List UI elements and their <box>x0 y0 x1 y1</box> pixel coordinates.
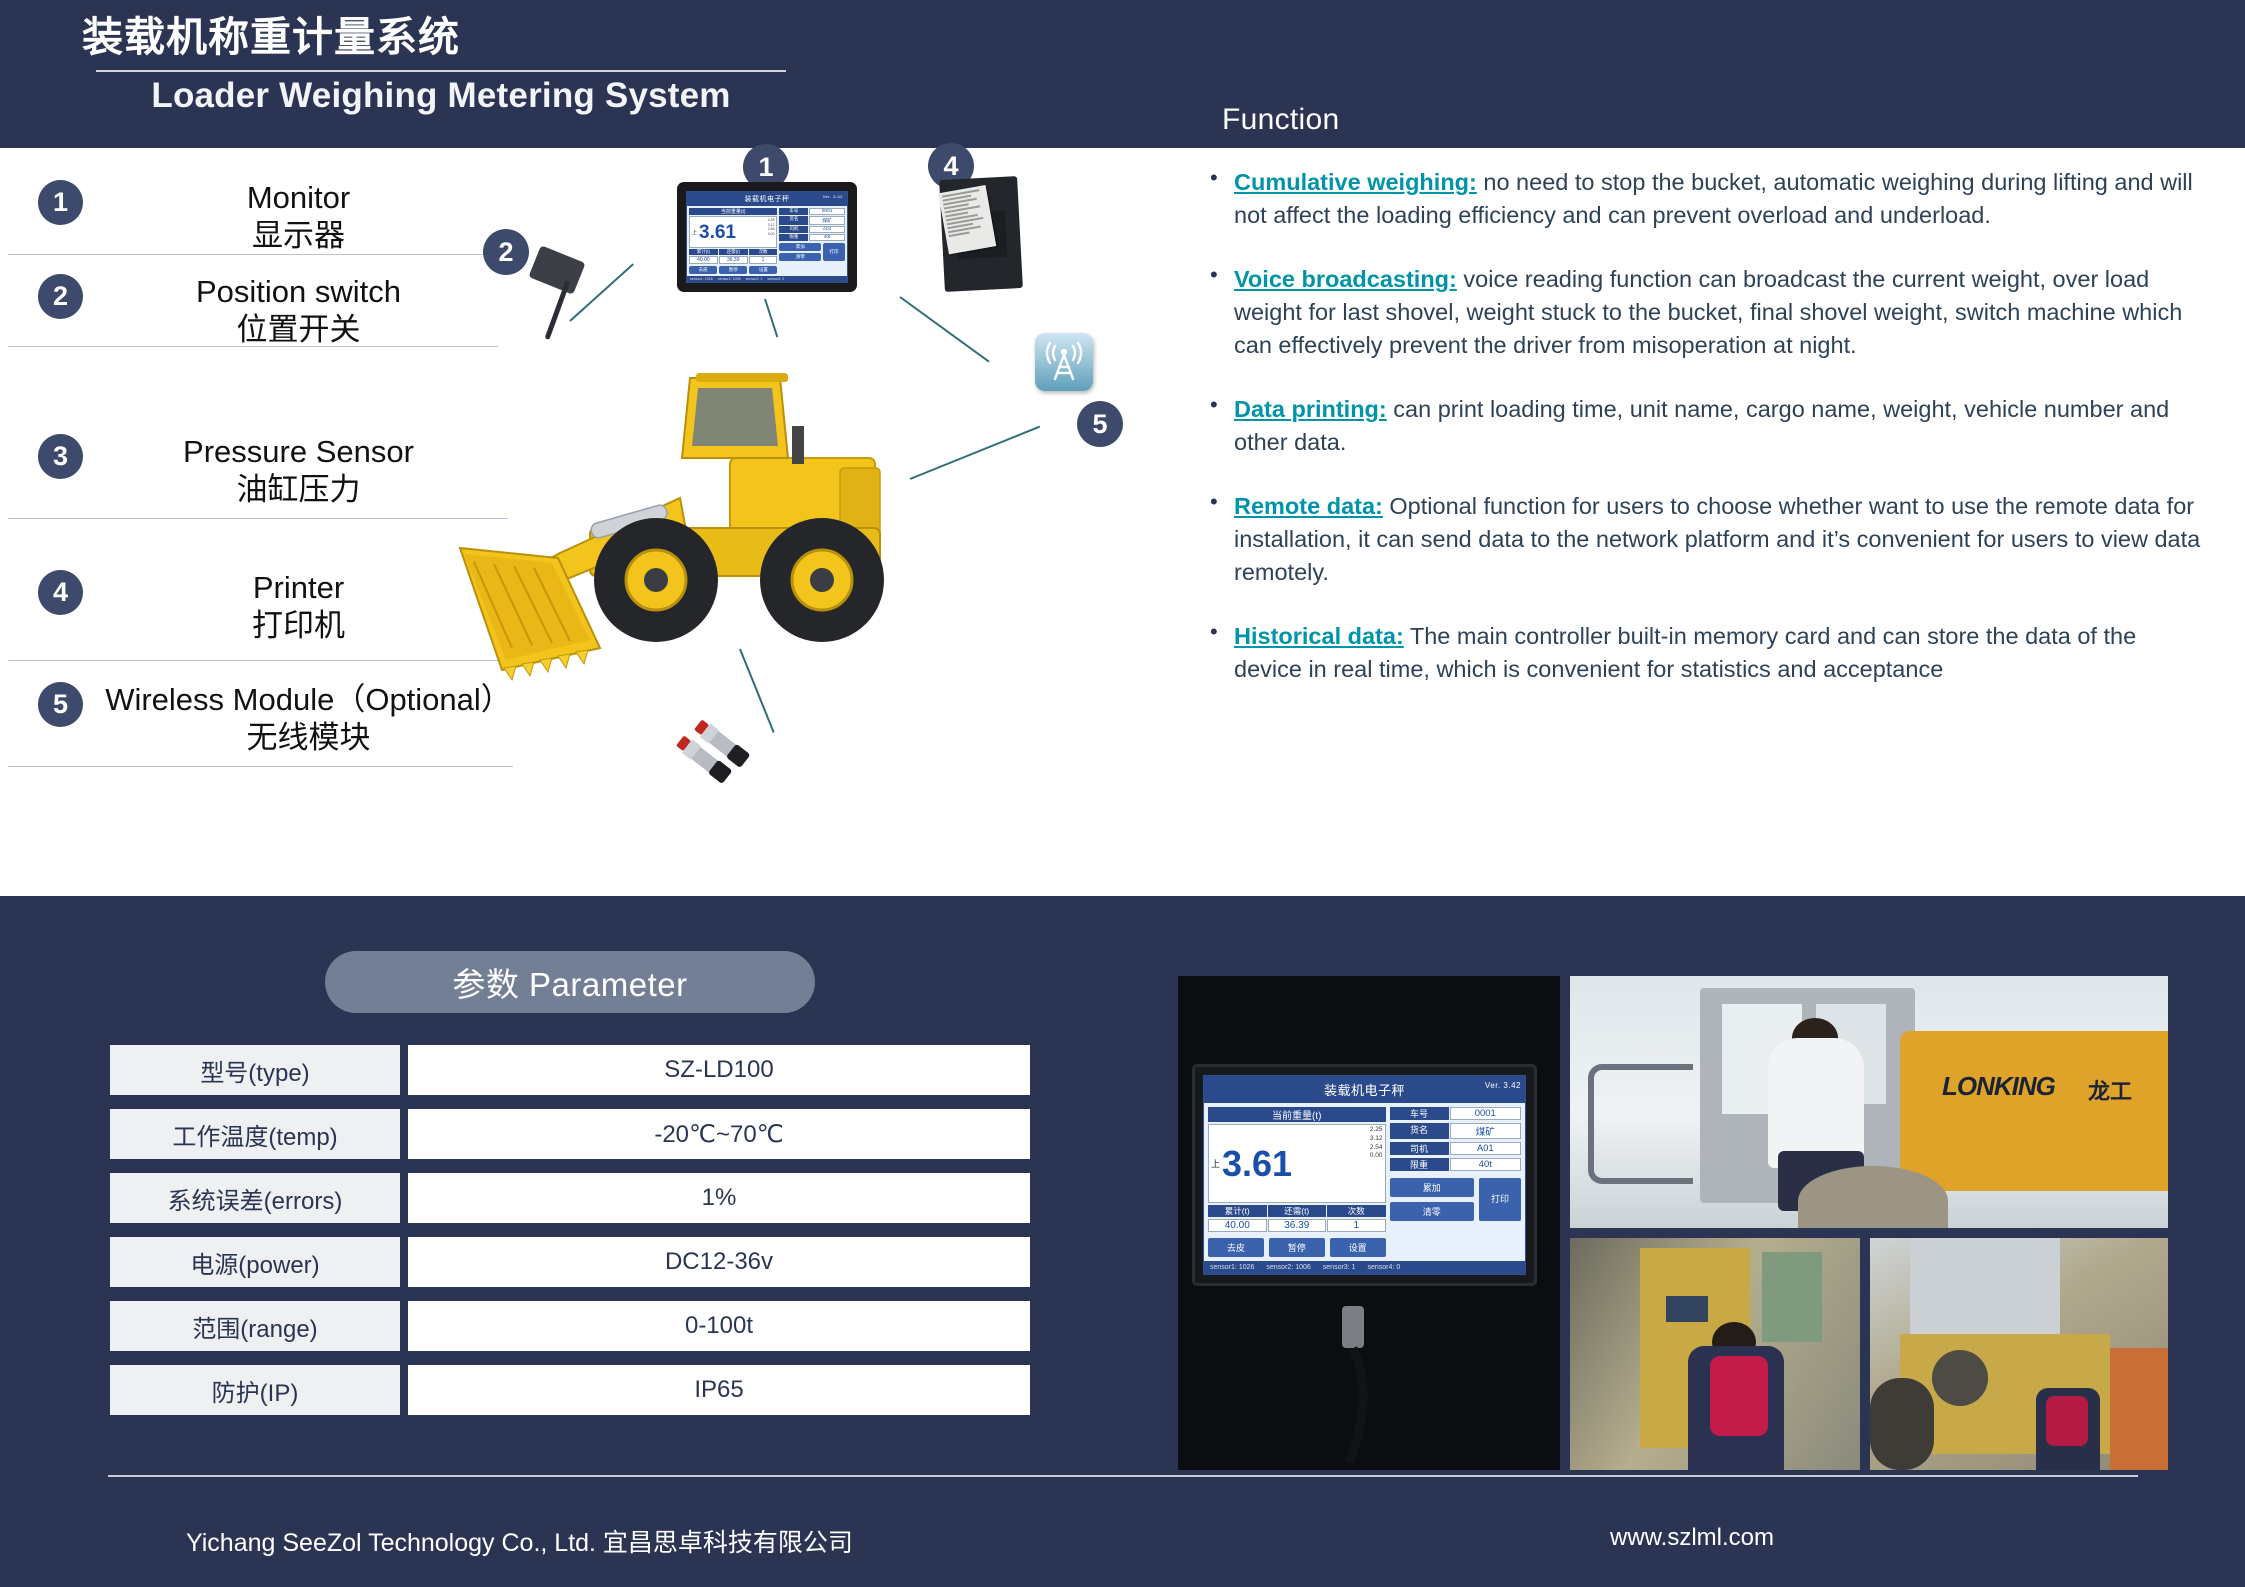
monitor-td-1: 36.39 <box>719 256 748 264</box>
monitor-sensor-footer: sensor1: 1026 sensor2: 1006 sensor3: 1 <box>687 276 847 282</box>
table-row: 防护(IP) IP65 <box>110 1365 1030 1415</box>
photo-nameplate <box>1666 1296 1708 1322</box>
monitor-device: 装载机电子秤 Ver. 3.42 当前重量(t) 上 3.61 2.25 3. <box>677 182 857 292</box>
photo-field-val-3: 40t <box>1450 1158 1521 1171</box>
monitor-sensor-key-1: sensor2: <box>718 277 732 281</box>
function-item-historical-data: • Historical data: The main controller b… <box>1210 620 2210 687</box>
bullet-dot-icon: • <box>1210 166 1234 233</box>
table-row: 型号(type) SZ-LD100 <box>110 1045 1030 1095</box>
function-item-data-printing: • Data printing: can print loading time,… <box>1210 393 2210 460</box>
header-title-block: 装载机称重计量系统 Loader Weighing Metering Syste… <box>82 12 882 116</box>
photo-sensor-key-1: sensor2: <box>1266 1264 1293 1271</box>
function-body-4: Historical data: The main controller bui… <box>1234 620 2210 687</box>
photo-history-1: 3.12 <box>1370 1135 1383 1142</box>
parameter-table-section: 参数 Parameter 型号(type) SZ-LD100 工作温度(temp… <box>110 951 1030 1429</box>
monitor-field-driver: 司机 A01 <box>779 226 845 233</box>
legend-item-position-switch[interactable]: 2 Position switch 位置开关 <box>38 274 508 348</box>
param-value-type: SZ-LD100 <box>408 1045 1030 1095</box>
photo-print-button[interactable]: 打印 <box>1479 1178 1521 1221</box>
photo-sensor-0: sensor1: 1026 <box>1210 1264 1254 1271</box>
header-divider <box>96 70 786 72</box>
photo-sensor-2: sensor3: 1 <box>1323 1264 1356 1271</box>
function-item-cumulative-weighing: • Cumulative weighing: no need to stop t… <box>1210 166 2210 233</box>
photo-field-vehicle: 车号 0001 <box>1390 1107 1521 1120</box>
monitor-history-3: 0.00 <box>768 232 775 236</box>
function-bullet-list: • Cumulative weighing: no need to stop t… <box>1210 166 2210 716</box>
photo-field-driver: 司机 A01 <box>1390 1142 1521 1155</box>
function-key-4[interactable]: Historical data: <box>1234 623 1404 649</box>
photo-pause-button[interactable]: 暂停 <box>1269 1238 1325 1257</box>
photo-side-panel <box>2110 1348 2168 1470</box>
monitor-settings-button[interactable]: 设置 <box>749 266 777 274</box>
photo-monitor-weight-value: 3.61 <box>1222 1146 1292 1182</box>
page-title-cn: 装载机称重计量系统 <box>82 12 882 63</box>
top-content-band: 1 Monitor 显示器 2 Position switch 位置开关 3 P… <box>0 148 2245 896</box>
legend-item-pressure-sensor[interactable]: 3 Pressure Sensor 油缸压力 <box>38 434 508 508</box>
monitor-sensor-val-2: 1 <box>760 277 762 281</box>
function-body-1: Voice broadcasting: voice reading functi… <box>1234 263 2210 363</box>
photo-sensor-1: sensor2: 1006 <box>1266 1264 1310 1271</box>
function-body-2: Data printing: can print loading time, u… <box>1234 393 2210 460</box>
position-switch-body <box>528 245 585 295</box>
table-row: 范围(range) 0-100t <box>110 1301 1030 1351</box>
monitor-clear-button[interactable]: 清零 <box>779 253 821 261</box>
legend-divider-5 <box>8 766 513 767</box>
receipt-line <box>949 232 970 237</box>
monitor-title-text: 装载机电子秤 <box>745 196 790 203</box>
monitor-history-1: 3.12 <box>768 223 775 227</box>
monitor-screen-body: 当前重量(t) 上 3.61 2.25 3.12 2.54 0.00 <box>687 206 847 276</box>
monitor-right-panel: 车号 0001 货名 煤矿 司机 A01 <box>779 208 845 274</box>
monitor-screen-title: 装载机电子秤 Ver. 3.42 <box>687 192 847 206</box>
monitor-history-2: 2.54 <box>768 227 775 231</box>
function-section-label: Function <box>1222 103 1339 137</box>
legend-badge-3: 3 <box>38 434 83 479</box>
photo-field-limit: 限重 40t <box>1390 1158 1521 1171</box>
photo-monitor-left: 当前重量(t) 上 3.61 2.25 3.12 2.54 0.00 <box>1208 1107 1386 1257</box>
monitor-action-row: 累加 清零 打印 <box>779 243 845 261</box>
monitor-td-0: 40.00 <box>689 256 718 264</box>
photo-monitor-screen: 装载机电子秤 Ver. 3.42 当前重量(t) 上 3.61 2.25 <box>1203 1075 1526 1275</box>
monitor-field-limit: 限重 40t <box>779 234 845 241</box>
photo-field-key-1: 货名 <box>1390 1123 1449 1139</box>
monitor-current-weight-display: 上 3.61 2.25 3.12 2.54 0.00 <box>689 216 777 248</box>
function-key-2[interactable]: Data printing: <box>1234 396 1387 422</box>
legend-badge-5: 5 <box>38 682 83 727</box>
monitor-sensor-0: sensor1: 1026 <box>690 277 713 281</box>
product-diagram: 1 2 3 4 5 <box>440 148 1140 896</box>
monitor-sensor-1: sensor2: 1006 <box>718 277 741 281</box>
photo-sensor-val-2: 1 <box>1352 1264 1356 1271</box>
photo-radiator-fan <box>1932 1350 1988 1406</box>
monitor-th-1: 还需(t) <box>719 249 748 255</box>
function-key-3[interactable]: Remote data: <box>1234 493 1383 519</box>
bullet-dot-icon: • <box>1210 620 1234 687</box>
monitor-table-header-row: 累计(t) 还需(t) 次数 <box>689 249 777 255</box>
monitor-sensor-val-1: 1006 <box>733 277 741 281</box>
photo-history-2: 2.54 <box>1370 1144 1383 1151</box>
monitor-current-weight-value: 3.61 <box>699 223 736 242</box>
monitor-version: Ver. 3.42 <box>823 194 843 199</box>
antenna-tower-svg <box>1035 333 1093 391</box>
table-row: 系统误差(errors) 1% <box>110 1173 1030 1223</box>
photo-monitor-actions: 累加 清零 打印 <box>1390 1178 1521 1221</box>
monitor-tare-button[interactable]: 去皮 <box>689 266 717 274</box>
photo-monitor-right: 车号 0001 货名 煤矿 司机 A01 <box>1390 1107 1521 1257</box>
pressure-sensor-devices <box>680 708 790 778</box>
photo-sensor-3: sensor4: 0 <box>1368 1264 1401 1271</box>
monitor-history-0: 2.25 <box>768 218 775 222</box>
legend-divider-4 <box>8 660 503 661</box>
photo-field-key-0: 车号 <box>1390 1107 1449 1120</box>
legend-badge-1: 1 <box>38 180 83 225</box>
photo-ladder-rail <box>1588 1064 1693 1184</box>
monitor-sensor-key-0: sensor1: <box>690 277 704 281</box>
monitor-action-col: 累加 清零 <box>779 243 821 261</box>
photo-history-0: 2.25 <box>1370 1126 1383 1133</box>
photo-technician-body <box>1768 1038 1864 1168</box>
photo-field-val-1: 煤矿 <box>1450 1123 1521 1139</box>
function-body-0: Cumulative weighing: no need to stop the… <box>1234 166 2210 233</box>
photo-sensor-key-2: sensor3: <box>1323 1264 1350 1271</box>
photo-field-val-2: A01 <box>1450 1142 1521 1155</box>
legend-divider-2 <box>8 346 498 347</box>
photo-monitor-weight-display: 上 3.61 2.25 3.12 2.54 0.00 <box>1208 1124 1386 1203</box>
photo-td-1: 36.39 <box>1268 1219 1327 1232</box>
monitor-sensor-2: sensor3: 1 <box>746 277 763 281</box>
poster-page: 装载机称重计量系统 Loader Weighing Metering Syste… <box>0 0 2245 1587</box>
param-key-ip: 防护(IP) <box>110 1365 400 1415</box>
photo-monitor-bezel: 装载机电子秤 Ver. 3.42 当前重量(t) 上 3.61 2.25 <box>1192 1064 1537 1286</box>
photo-loader-side-install <box>1870 1238 2168 1470</box>
monitor-field-key-1: 货名 <box>779 216 808 225</box>
function-body-3: Remote data: Optional function for users… <box>1234 490 2210 590</box>
photo-gallery: 装载机电子秤 Ver. 3.42 当前重量(t) 上 3.61 2.25 <box>1178 976 2168 1470</box>
function-item-remote-data: • Remote data: Optional function for use… <box>1210 490 2210 590</box>
lonking-brand-logo-cn: 龙工 <box>2088 1074 2132 1106</box>
param-value-temp: -20℃~70℃ <box>408 1109 1030 1159</box>
page-header: 装载机称重计量系统 Loader Weighing Metering Syste… <box>0 0 2245 148</box>
legend-badge-4: 4 <box>38 570 83 615</box>
photo-loader-arm <box>1900 1031 2168 1191</box>
monitor-field-key-3: 限重 <box>779 234 808 241</box>
photo-th-2: 次数 <box>1327 1205 1386 1217</box>
photo-monitor-sensor-footer: sensor1: 1026 sensor2: 1006 sensor3: 1 <box>1204 1261 1525 1274</box>
monitor-history-stack: 2.25 3.12 2.54 0.00 <box>768 218 775 236</box>
footer-divider <box>108 1475 2138 1477</box>
photo-loader-tire <box>1798 1166 1948 1228</box>
monitor-field-val-2: A01 <box>809 226 845 233</box>
monitor-button-row: 去皮 暂停 设置 <box>689 266 777 274</box>
photo-history-3: 0.00 <box>1370 1152 1383 1159</box>
position-switch-rod <box>545 280 571 340</box>
legend-item-printer[interactable]: 4 Printer 打印机 <box>38 570 508 644</box>
photo-th-1: 还需(t) <box>1268 1205 1327 1217</box>
monitor-th-0: 累计(t) <box>689 249 718 255</box>
page-title-en: Loader Weighing Metering System <box>96 76 786 116</box>
monitor-pause-button[interactable]: 暂停 <box>719 266 747 274</box>
monitor-field-vehicle: 车号 0001 <box>779 208 845 215</box>
bullet-dot-icon: • <box>1210 263 1234 363</box>
photo-settings-button[interactable]: 设置 <box>1330 1238 1386 1257</box>
monitor-sensor-3: sensor4: 0 <box>767 277 784 281</box>
monitor-accumulate-button[interactable]: 累加 <box>779 243 821 251</box>
monitor-field-val-3: 40t <box>809 234 845 241</box>
photo-monitor-title-text: 装载机电子秤 <box>1324 1083 1405 1098</box>
photo-monitor-th-row: 累计(t) 还需(t) 次数 <box>1208 1205 1386 1217</box>
monitor-field-key-0: 车号 <box>779 208 808 215</box>
position-switch-device <box>525 253 589 348</box>
photo-loader-installation: LONKING 龙工 <box>1570 976 2168 1228</box>
photo-monitor-cable <box>1308 1306 1428 1466</box>
bullet-dot-icon: • <box>1210 490 1234 590</box>
photo-accumulate-button[interactable]: 累加 <box>1390 1178 1474 1197</box>
legend-item-monitor[interactable]: 1 Monitor 显示器 <box>38 180 508 254</box>
param-value-power: DC12-36v <box>408 1237 1030 1287</box>
bottom-content-band: 参数 Parameter 型号(type) SZ-LD100 工作温度(temp… <box>0 896 2245 1587</box>
monitor-field-val-0: 0001 <box>809 208 845 215</box>
photo-sensor-key-3: sensor4: <box>1368 1264 1395 1271</box>
param-key-power: 电源(power) <box>110 1237 400 1287</box>
footer-website[interactable]: www.szlml.com <box>1610 1524 1774 1552</box>
photo-td-2: 1 <box>1327 1219 1386 1232</box>
photo-monitor-version: Ver. 3.42 <box>1485 1081 1521 1090</box>
monitor-sensor-key-3: sensor4: <box>767 277 781 281</box>
monitor-current-weight-label: 当前重量(t) <box>689 208 777 215</box>
param-key-errors: 系统误差(errors) <box>110 1173 400 1223</box>
bullet-dot-icon: • <box>1210 393 1234 460</box>
loader-svg <box>440 318 1000 718</box>
antenna-tower-icon <box>1035 333 1093 391</box>
photo-action-col: 累加 清零 <box>1390 1178 1474 1221</box>
photo-monitor-td-row: 40.00 36.39 1 <box>1208 1219 1386 1232</box>
photo-sensor-val-1: 1006 <box>1295 1264 1311 1271</box>
callout-2[interactable]: 2 <box>483 229 529 275</box>
param-key-temp: 工作温度(temp) <box>110 1109 400 1159</box>
wheel-loader-illustration <box>440 318 1000 718</box>
legend-badge-2: 2 <box>38 274 83 319</box>
printer-receipt <box>938 185 996 254</box>
photo-field-val-0: 0001 <box>1450 1107 1521 1120</box>
photo-worker-vest <box>1710 1356 1768 1436</box>
legend-divider-1 <box>8 254 508 255</box>
photo-monitor-direction: 上 <box>1211 1157 1220 1170</box>
parameter-section-chip: 参数 Parameter <box>325 951 815 1013</box>
monitor-field-cargo: 货名 煤矿 <box>779 216 845 225</box>
legend-divider-3 <box>8 518 508 519</box>
footer-company-name: Yichang SeeZol Technology Co., Ltd. 宜昌思卓… <box>186 1523 853 1559</box>
function-item-voice-broadcasting: • Voice broadcasting: voice reading func… <box>1210 263 2210 363</box>
param-value-range: 0-100t <box>408 1301 1030 1351</box>
photo-field-cargo: 货名 煤矿 <box>1390 1123 1521 1139</box>
photo-monitor-installed: 装载机电子秤 Ver. 3.42 当前重量(t) 上 3.61 2.25 <box>1178 976 1560 1470</box>
photo-monitor-buttons: 去皮 暂停 设置 <box>1208 1238 1386 1257</box>
photo-field-key-2: 司机 <box>1390 1142 1449 1155</box>
photo-sensor-val-3: 0 <box>1396 1264 1400 1271</box>
photo-monitor-body: 当前重量(t) 上 3.61 2.25 3.12 2.54 0.00 <box>1204 1103 1525 1261</box>
photo-monitor-history: 2.25 3.12 2.54 0.00 <box>1370 1126 1383 1161</box>
monitor-sensor-key-2: sensor3: <box>746 277 760 281</box>
monitor-print-button[interactable]: 打印 <box>823 243 845 261</box>
photo-clear-button[interactable]: 清零 <box>1390 1202 1474 1221</box>
param-key-type: 型号(type) <box>110 1045 400 1095</box>
monitor-left-panel: 当前重量(t) 上 3.61 2.25 3.12 2.54 0.00 <box>689 208 777 274</box>
monitor-sensor-val-3: 0 <box>782 277 784 281</box>
photo-monitor-title-bar: 装载机电子秤 Ver. 3.42 <box>1204 1076 1525 1103</box>
photo-field-key-3: 限重 <box>1390 1158 1449 1171</box>
photo-worker-vest <box>2046 1396 2088 1446</box>
photo-td-0: 40.00 <box>1208 1219 1267 1232</box>
photo-monitor-current-label: 当前重量(t) <box>1208 1107 1386 1122</box>
printer-device <box>939 176 1023 292</box>
monitor-screen: 装载机电子秤 Ver. 3.42 当前重量(t) 上 3.61 2.25 3. <box>686 191 848 283</box>
photo-sensor-key-0: sensor1: <box>1210 1264 1237 1271</box>
callout-5[interactable]: 5 <box>1077 401 1123 447</box>
monitor-th-2: 次数 <box>749 249 778 255</box>
monitor-direction: 上 <box>692 229 697 236</box>
photo-tire <box>1870 1378 1934 1470</box>
function-key-0[interactable]: Cumulative weighing: <box>1234 169 1477 195</box>
photo-sensor-val-0: 1026 <box>1239 1264 1255 1271</box>
photo-tare-button[interactable]: 去皮 <box>1208 1238 1264 1257</box>
monitor-table-value-row: 40.00 36.39 1 <box>689 256 777 264</box>
photo-engine-bay-install <box>1570 1238 1860 1470</box>
photo-grill <box>1762 1252 1822 1342</box>
monitor-field-val-1: 煤矿 <box>809 216 845 225</box>
function-key-1[interactable]: Voice broadcasting: <box>1234 266 1457 292</box>
table-row: 工作温度(temp) -20℃~70℃ <box>110 1109 1030 1159</box>
monitor-field-key-2: 司机 <box>779 226 808 233</box>
monitor-sensor-val-0: 1026 <box>705 277 713 281</box>
param-value-errors: 1% <box>408 1173 1030 1223</box>
lonking-brand-logo: LONKING <box>1942 1071 2055 1102</box>
photo-th-0: 累计(t) <box>1208 1205 1267 1217</box>
table-row: 电源(power) DC12-36v <box>110 1237 1030 1287</box>
param-value-ip: IP65 <box>408 1365 1030 1415</box>
monitor-td-2: 1 <box>749 256 778 264</box>
param-key-range: 范围(range) <box>110 1301 400 1351</box>
